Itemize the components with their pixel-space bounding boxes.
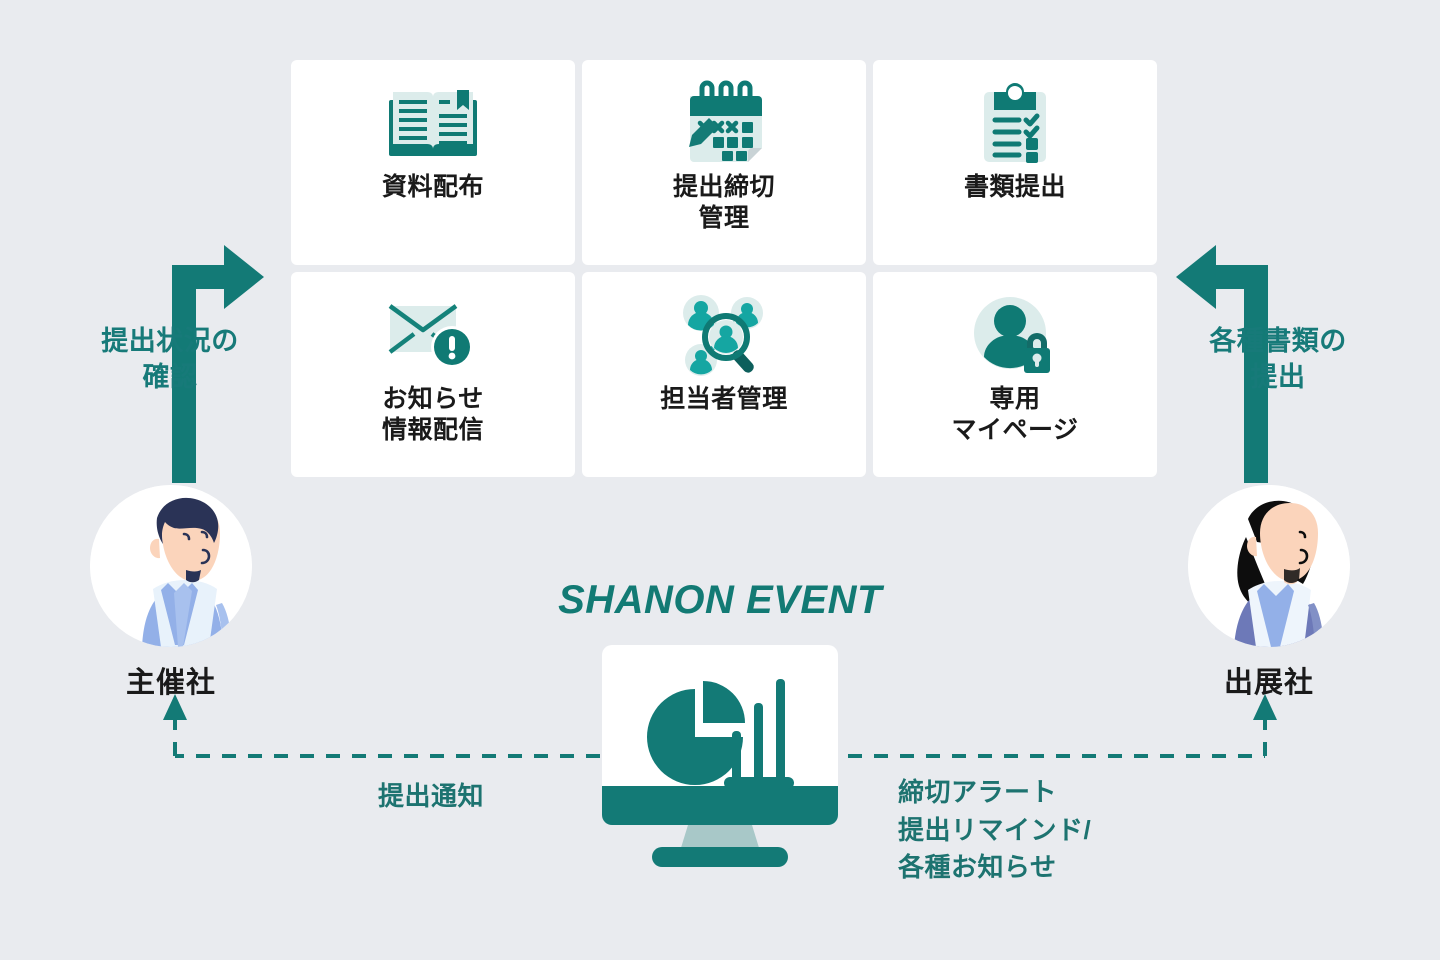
monitor-analytics-icon xyxy=(600,643,840,873)
right-notification-label: 締切アラート 提出リマインド/ 各種お知らせ xyxy=(898,774,1091,887)
left-notification-label: 提出通知 xyxy=(378,778,484,816)
diagram-canvas: 資料配布 xyxy=(0,0,1440,960)
product-brand-title: SHANON EVENT xyxy=(520,578,920,623)
